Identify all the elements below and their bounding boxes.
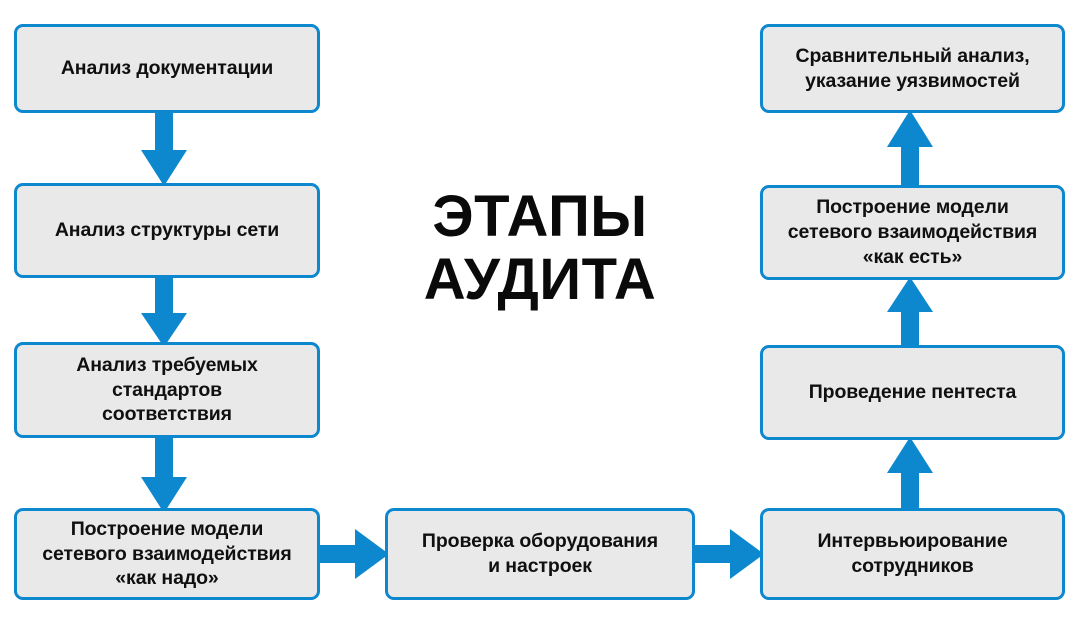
arrow-down-icon: [141, 435, 187, 513]
node-interview-staff[interactable]: Интервьюирование сотрудников: [760, 508, 1065, 600]
node-label: Анализ документации: [61, 56, 273, 81]
node-label-line: указание уязвимостей: [795, 69, 1029, 94]
node-standards-analysis[interactable]: Анализ требуемых стандартов соответствия: [14, 342, 320, 438]
node-label-line: Проведение пентеста: [809, 380, 1017, 405]
node-label-line: Анализ документации: [61, 56, 273, 81]
node-label-line: Интервьюирование: [817, 529, 1007, 554]
node-label: Сравнительный анализ, указание уязвимост…: [795, 44, 1029, 94]
node-label-line: Проверка оборудования: [422, 529, 658, 554]
node-doc-analysis[interactable]: Анализ документации: [14, 24, 320, 113]
arrow-up-icon: [887, 110, 933, 188]
node-equipment-check[interactable]: Проверка оборудования и настроек: [385, 508, 695, 600]
node-label-line: Построение модели: [42, 517, 291, 542]
node-label-line: сотрудников: [817, 554, 1007, 579]
node-label: Проверка оборудования и настроек: [422, 529, 658, 579]
node-model-as-needed[interactable]: Построение модели сетевого взаимодействи…: [14, 508, 320, 600]
node-label: Проведение пентеста: [809, 380, 1017, 405]
node-label-line: «как есть»: [788, 245, 1037, 270]
arrow-down-icon: [141, 275, 187, 347]
arrow-up-icon: [887, 437, 933, 511]
node-pentest[interactable]: Проведение пентеста: [760, 345, 1065, 440]
diagram-title-line-2: АУДИТА: [360, 249, 720, 312]
diagram-title-line-1: ЭТАПЫ: [432, 184, 647, 249]
node-label: Построение модели сетевого взаимодействи…: [42, 517, 291, 592]
node-label-line: «как надо»: [42, 566, 291, 591]
node-label-line: Анализ структуры сети: [55, 218, 279, 243]
arrow-right-icon: [317, 529, 389, 579]
node-label: Построение модели сетевого взаимодействи…: [788, 195, 1037, 270]
node-label-line: Построение модели: [788, 195, 1037, 220]
arrow-up-icon: [887, 277, 933, 349]
node-label-line: Анализ требуемых: [76, 353, 258, 378]
node-label: Анализ требуемых стандартов соответствия: [76, 353, 258, 428]
node-label: Интервьюирование сотрудников: [817, 529, 1007, 579]
node-comparative-analysis[interactable]: Сравнительный анализ, указание уязвимост…: [760, 24, 1065, 113]
node-label-line: Сравнительный анализ,: [795, 44, 1029, 69]
arrow-down-icon: [141, 110, 187, 186]
node-label-line: и настроек: [422, 554, 658, 579]
node-label-line: соответствия: [76, 402, 258, 427]
node-label: Анализ структуры сети: [55, 218, 279, 243]
node-label-line: стандартов: [76, 378, 258, 403]
node-label-line: сетевого взаимодействия: [788, 220, 1037, 245]
node-label-line: сетевого взаимодействия: [42, 542, 291, 567]
node-model-as-is[interactable]: Построение модели сетевого взаимодействи…: [760, 185, 1065, 280]
diagram-canvas: Анализ документации Анализ структуры сет…: [0, 0, 1080, 618]
diagram-title: ЭТАПЫ АУДИТА: [360, 186, 720, 311]
node-network-structure[interactable]: Анализ структуры сети: [14, 183, 320, 278]
arrow-right-icon: [692, 529, 764, 579]
